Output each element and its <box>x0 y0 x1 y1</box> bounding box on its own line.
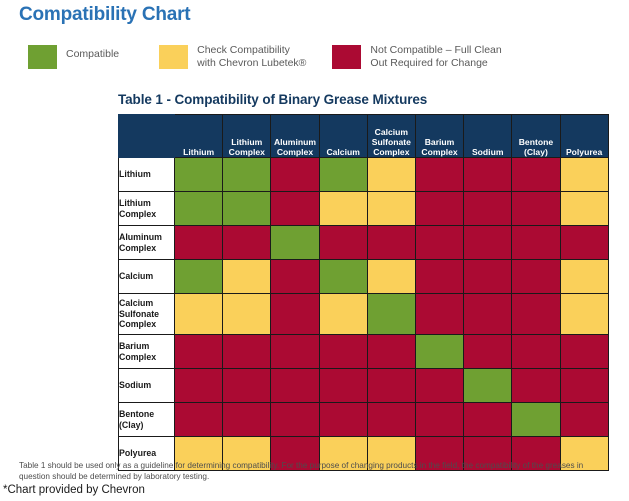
page-title: Compatibility Chart <box>19 4 190 26</box>
matrix-cell-red <box>560 226 608 260</box>
matrix-column-header: Sodium <box>464 115 512 158</box>
matrix-cell-red <box>271 335 319 369</box>
matrix-row: Barium Complex <box>119 335 609 369</box>
matrix-cell-yellow <box>560 158 608 192</box>
matrix-cell-red <box>367 403 415 437</box>
legend-item-compatible: Compatible <box>28 44 119 69</box>
matrix-cell-red <box>464 260 512 294</box>
matrix-row-label: Lithium <box>119 158 175 192</box>
matrix-cell-red <box>560 335 608 369</box>
matrix-column-header: Calcium Sulfonate Complex <box>367 115 415 158</box>
legend: Compatible Check Compatibility with Chev… <box>28 44 502 70</box>
matrix-cell-red <box>271 403 319 437</box>
matrix-cell-yellow <box>319 294 367 335</box>
matrix-cell-red <box>367 369 415 403</box>
matrix-row-label: Calcium <box>119 260 175 294</box>
matrix-cell-red <box>512 369 560 403</box>
compatibility-matrix: LithiumLithium ComplexAluminum ComplexCa… <box>118 114 609 471</box>
matrix-cell-yellow <box>367 260 415 294</box>
matrix-cell-yellow <box>560 294 608 335</box>
matrix-cell-yellow <box>367 192 415 226</box>
matrix-cell-green <box>175 260 223 294</box>
matrix-cell-red <box>415 369 463 403</box>
matrix-cell-red <box>415 158 463 192</box>
matrix-row: Bentone (Clay) <box>119 403 609 437</box>
matrix-cell-red <box>319 403 367 437</box>
matrix-corner-cell <box>119 115 175 158</box>
matrix-cell-red <box>512 192 560 226</box>
matrix-cell-red <box>223 369 271 403</box>
matrix-cell-yellow <box>223 294 271 335</box>
legend-swatch-yellow <box>159 45 188 69</box>
matrix-row: Sodium <box>119 369 609 403</box>
matrix-cell-red <box>367 226 415 260</box>
matrix-cell-red <box>464 403 512 437</box>
matrix-cell-yellow <box>223 260 271 294</box>
matrix-cell-red <box>415 226 463 260</box>
matrix-cell-red <box>512 260 560 294</box>
matrix-cell-red <box>271 294 319 335</box>
matrix-cell-green <box>512 403 560 437</box>
matrix-cell-red <box>560 369 608 403</box>
legend-label-check-compatibility: Check Compatibility with Chevron Lubetek… <box>197 44 306 70</box>
legend-swatch-green <box>28 45 57 69</box>
matrix-cell-red <box>367 335 415 369</box>
matrix-cell-green <box>319 158 367 192</box>
matrix-row-label: Barium Complex <box>119 335 175 369</box>
matrix-column-header: Barium Complex <box>415 115 463 158</box>
matrix-row-label: Aluminum Complex <box>119 226 175 260</box>
matrix-cell-red <box>512 158 560 192</box>
legend-label-not-compatible: Not Compatible – Full Clean Out Required… <box>370 44 501 70</box>
legend-item-not-compatible: Not Compatible – Full Clean Out Required… <box>332 44 501 70</box>
matrix-cell-red <box>223 403 271 437</box>
matrix-header-row: LithiumLithium ComplexAluminum ComplexCa… <box>119 115 609 158</box>
matrix-cell-red <box>271 260 319 294</box>
matrix-cell-red <box>464 192 512 226</box>
matrix-cell-green <box>415 335 463 369</box>
matrix-cell-red <box>415 192 463 226</box>
matrix-cell-green <box>464 369 512 403</box>
matrix-column-header: Lithium Complex <box>223 115 271 158</box>
matrix-cell-red <box>512 335 560 369</box>
matrix-row: Lithium Complex <box>119 192 609 226</box>
legend-swatch-red <box>332 45 361 69</box>
matrix-cell-red <box>415 294 463 335</box>
matrix-row-label: Calcium Sulfonate Complex <box>119 294 175 335</box>
matrix-cell-green <box>223 158 271 192</box>
matrix-row: Lithium <box>119 158 609 192</box>
matrix-cell-green <box>367 294 415 335</box>
matrix-row-label: Bentone (Clay) <box>119 403 175 437</box>
matrix-cell-green <box>175 192 223 226</box>
matrix-cell-red <box>319 226 367 260</box>
matrix-cell-red <box>175 403 223 437</box>
matrix-cell-green <box>175 158 223 192</box>
matrix-cell-red <box>223 335 271 369</box>
matrix-cell-red <box>512 294 560 335</box>
matrix-cell-yellow <box>175 294 223 335</box>
matrix-row: Calcium Sulfonate Complex <box>119 294 609 335</box>
matrix-cell-yellow <box>560 192 608 226</box>
matrix-cell-yellow <box>319 192 367 226</box>
matrix-cell-yellow <box>367 158 415 192</box>
legend-label-compatible: Compatible <box>66 44 119 61</box>
table-title: Table 1 - Compatibility of Binary Grease… <box>118 92 427 107</box>
matrix-cell-red <box>560 403 608 437</box>
matrix-cell-red <box>464 158 512 192</box>
matrix-column-header: Lithium <box>175 115 223 158</box>
matrix-cell-green <box>319 260 367 294</box>
legend-item-check-compatibility: Check Compatibility with Chevron Lubetek… <box>159 44 306 70</box>
matrix-cell-red <box>223 226 271 260</box>
matrix-cell-red <box>175 226 223 260</box>
matrix-cell-green <box>223 192 271 226</box>
matrix-cell-red <box>464 335 512 369</box>
matrix-cell-red <box>271 192 319 226</box>
matrix-row-label: Sodium <box>119 369 175 403</box>
matrix-cell-red <box>175 335 223 369</box>
matrix-cell-red <box>175 369 223 403</box>
matrix-cell-red <box>415 403 463 437</box>
matrix-cell-yellow <box>560 260 608 294</box>
matrix-cell-red <box>271 369 319 403</box>
matrix-row-label: Lithium Complex <box>119 192 175 226</box>
matrix-cell-red <box>464 294 512 335</box>
table-footnote: Table 1 should be used only as a guideli… <box>19 461 611 482</box>
matrix-column-header: Polyurea <box>560 115 608 158</box>
matrix-cell-red <box>319 335 367 369</box>
matrix-column-header: Aluminum Complex <box>271 115 319 158</box>
matrix-cell-red <box>271 158 319 192</box>
matrix-column-header: Bentone (Clay) <box>512 115 560 158</box>
matrix-cell-red <box>512 226 560 260</box>
matrix-row: Calcium <box>119 260 609 294</box>
matrix-cell-red <box>319 369 367 403</box>
matrix-column-header: Calcium <box>319 115 367 158</box>
matrix-row: Aluminum Complex <box>119 226 609 260</box>
matrix-cell-red <box>464 226 512 260</box>
matrix-cell-red <box>415 260 463 294</box>
matrix-cell-green <box>271 226 319 260</box>
chart-attribution: *Chart provided by Chevron <box>3 484 145 496</box>
